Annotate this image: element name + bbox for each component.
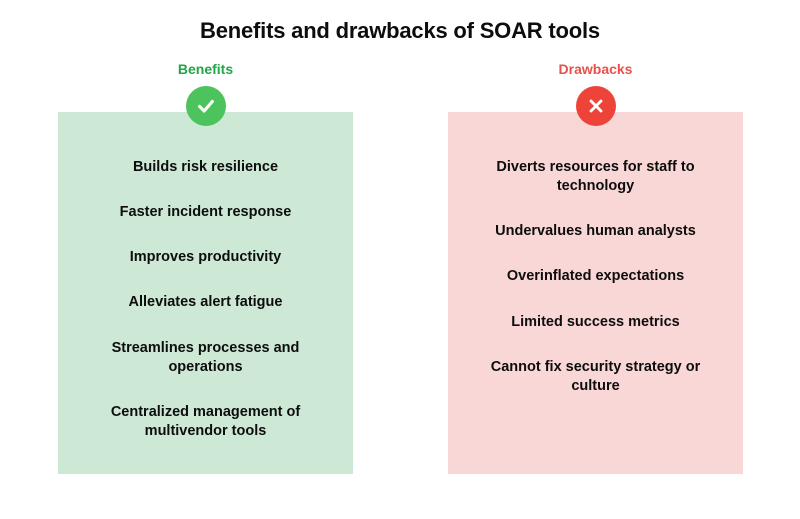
drawbacks-icon-wrap — [448, 86, 743, 112]
drawbacks-list: Diverts resources for staff to technolog… — [466, 158, 725, 396]
drawbacks-header: Drawbacks — [448, 62, 743, 76]
list-item: Diverts resources for staff to technolog… — [466, 158, 725, 196]
list-item: Cannot fix security strategy or culture — [466, 358, 725, 396]
list-item: Centralized management of multivendor to… — [76, 403, 335, 441]
list-item: Limited success metrics — [466, 313, 725, 332]
drawbacks-panel: Diverts resources for staff to technolog… — [448, 112, 743, 474]
benefits-list: Builds risk resilience Faster incident r… — [76, 158, 335, 441]
list-item: Faster incident response — [76, 203, 335, 222]
list-item: Improves productivity — [76, 248, 335, 267]
cross-circle-icon — [576, 86, 616, 126]
benefits-panel: Builds risk resilience Faster incident r… — [58, 112, 353, 474]
page-title: Benefits and drawbacks of SOAR tools — [0, 18, 800, 44]
benefits-column: Benefits Builds risk resilience Faster i… — [58, 62, 353, 474]
check-circle-icon — [186, 86, 226, 126]
benefits-header: Benefits — [58, 62, 353, 76]
list-item: Builds risk resilience — [76, 158, 335, 177]
drawbacks-column: Drawbacks Diverts resources for staff to… — [448, 62, 743, 474]
list-item: Streamlines processes and operations — [76, 339, 335, 377]
list-item: Overinflated expectations — [466, 267, 725, 286]
benefits-icon-wrap — [58, 86, 353, 112]
list-item: Alleviates alert fatigue — [76, 293, 335, 312]
infographic-root: Benefits and drawbacks of SOAR tools Ben… — [0, 0, 800, 519]
list-item: Undervalues human analysts — [466, 222, 725, 241]
